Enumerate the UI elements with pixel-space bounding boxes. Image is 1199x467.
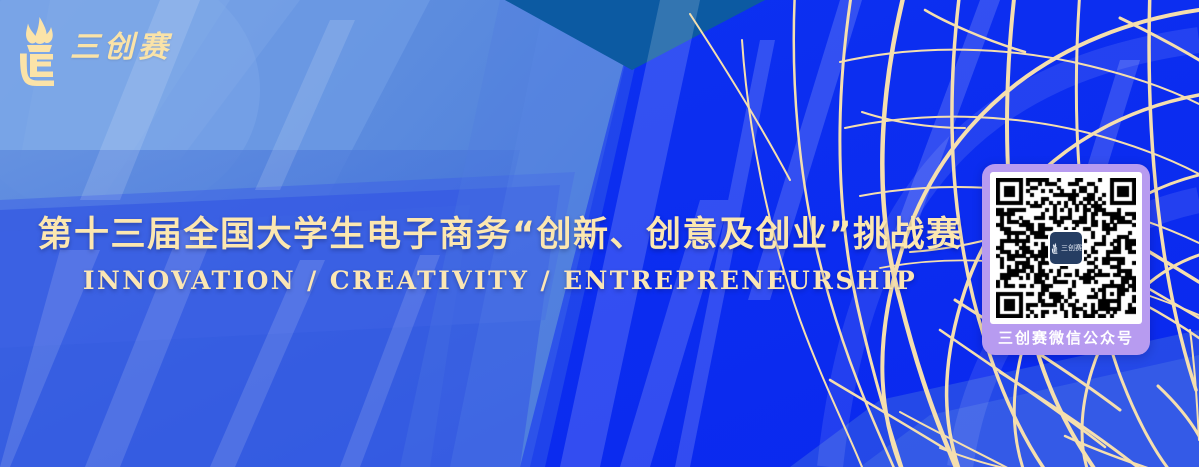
logo-wordmark: 三创赛 <box>70 33 172 67</box>
torch-flame-icon <box>8 14 64 86</box>
qr-code-image[interactable]: 三创赛 <box>990 172 1142 324</box>
qr-center-logo: 三创赛 <box>1048 230 1084 266</box>
qr-caption: 三创赛微信公众号 <box>990 324 1142 355</box>
qr-center-logo-text: 三创赛 <box>1061 245 1082 252</box>
site-logo[interactable]: 三创赛 <box>8 14 172 86</box>
competition-banner: 三创赛 第十三届全国大学生电子商务“创新、创意及创业”挑战赛 INNOVATIO… <box>0 0 1199 467</box>
wechat-qr-card[interactable]: 三创赛 三创赛微信公众号 <box>982 164 1150 355</box>
torch-flame-icon <box>1050 240 1059 256</box>
